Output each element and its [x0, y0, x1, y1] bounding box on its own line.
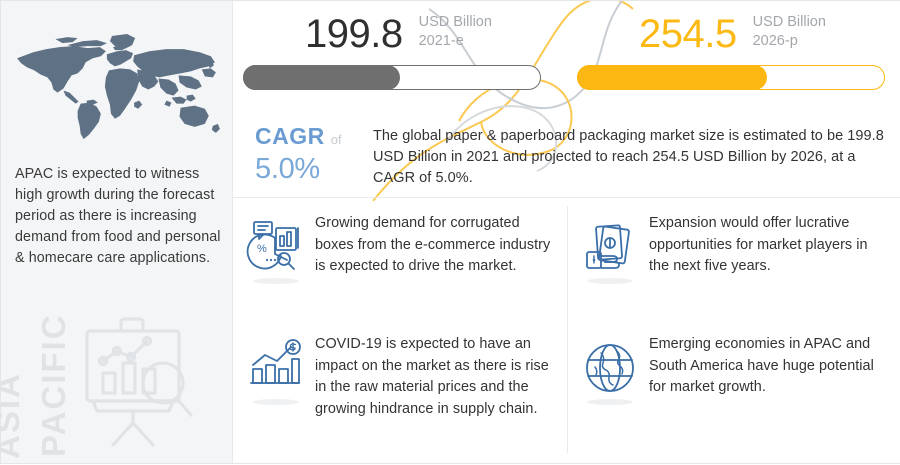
watermark-asia-label: ASIA [0, 372, 27, 459]
globe-icon [579, 337, 641, 399]
stat-2021-period: 2021-e [419, 32, 492, 51]
svg-text:%: % [257, 243, 267, 255]
bullets-grid: % Growing demand [233, 197, 900, 461]
apac-note-text: APAC is expected to witness high growth … [15, 164, 225, 269]
left-panel: APAC is expected to witness high growth … [1, 1, 233, 463]
bullet-text: Emerging economies in APAC and South Ame… [649, 333, 887, 399]
stat-2026: 254.5 USD Billion 2026-p [567, 7, 900, 111]
bullet-item: Expansion would offer lucrative opportun… [567, 198, 900, 319]
presentation-chart-icon [73, 311, 203, 451]
summary-row: CAGRof 5.0% The global paper & paperboar… [233, 111, 900, 197]
cagr-heading: CAGRof [255, 123, 365, 153]
asia-pacific-watermark: ASIA PACIFIC [1, 297, 233, 465]
bullet-text: Expansion would offer lucrative opportun… [649, 212, 887, 278]
bar-track-2021 [243, 65, 541, 90]
stat-2021-unit: USD Billion [419, 14, 492, 30]
bullet-text: Growing demand for corrugated boxes from… [315, 212, 553, 278]
bullet-item: % Growing demand [233, 198, 567, 319]
cagr-value: 5.0% [255, 153, 365, 186]
stat-2026-head: 254.5 USD Billion 2026-p [575, 7, 891, 65]
stat-2021-label: USD Billion 2021-e [419, 13, 492, 51]
stats-row: 199.8 USD Billion 2021-e 254.5 USD Billi… [233, 1, 900, 111]
cagr-block: CAGRof 5.0% [233, 123, 365, 186]
bar-fill-2021 [243, 65, 400, 90]
right-panel: 199.8 USD Billion 2021-e 254.5 USD Billi… [233, 1, 900, 463]
stat-2026-period: 2026-p [753, 32, 826, 51]
stat-2021-value: 199.8 [305, 7, 403, 61]
market-analysis-icon: % [245, 216, 307, 278]
cagr-label: CAGR [255, 123, 325, 149]
money-hand-icon [579, 216, 641, 278]
stat-2026-label: USD Billion 2026-p [753, 13, 826, 51]
bar-track-2026 [577, 65, 885, 90]
world-map-icon [7, 15, 229, 155]
stat-2021: 199.8 USD Billion 2021-e [233, 7, 567, 111]
stat-2026-unit: USD Billion [753, 14, 826, 30]
stat-2021-head: 199.8 USD Billion 2021-e [241, 7, 557, 65]
bullet-item: Emerging economies in APAC and South Ame… [567, 319, 900, 461]
bar-fill-2026 [577, 65, 767, 90]
cagr-of-label: of [331, 132, 342, 147]
growth-chart-dollar-icon [245, 337, 307, 399]
market-description: The global paper & paperboard packaging … [365, 123, 900, 189]
infographic-root: APAC is expected to witness high growth … [0, 0, 900, 464]
stat-2026-value: 254.5 [639, 7, 737, 61]
bullet-item: COVID-19 is expected to have an impact o… [233, 319, 567, 461]
bullet-text: COVID-19 is expected to have an impact o… [315, 333, 553, 420]
watermark-pacific-label: PACIFIC [35, 313, 73, 457]
